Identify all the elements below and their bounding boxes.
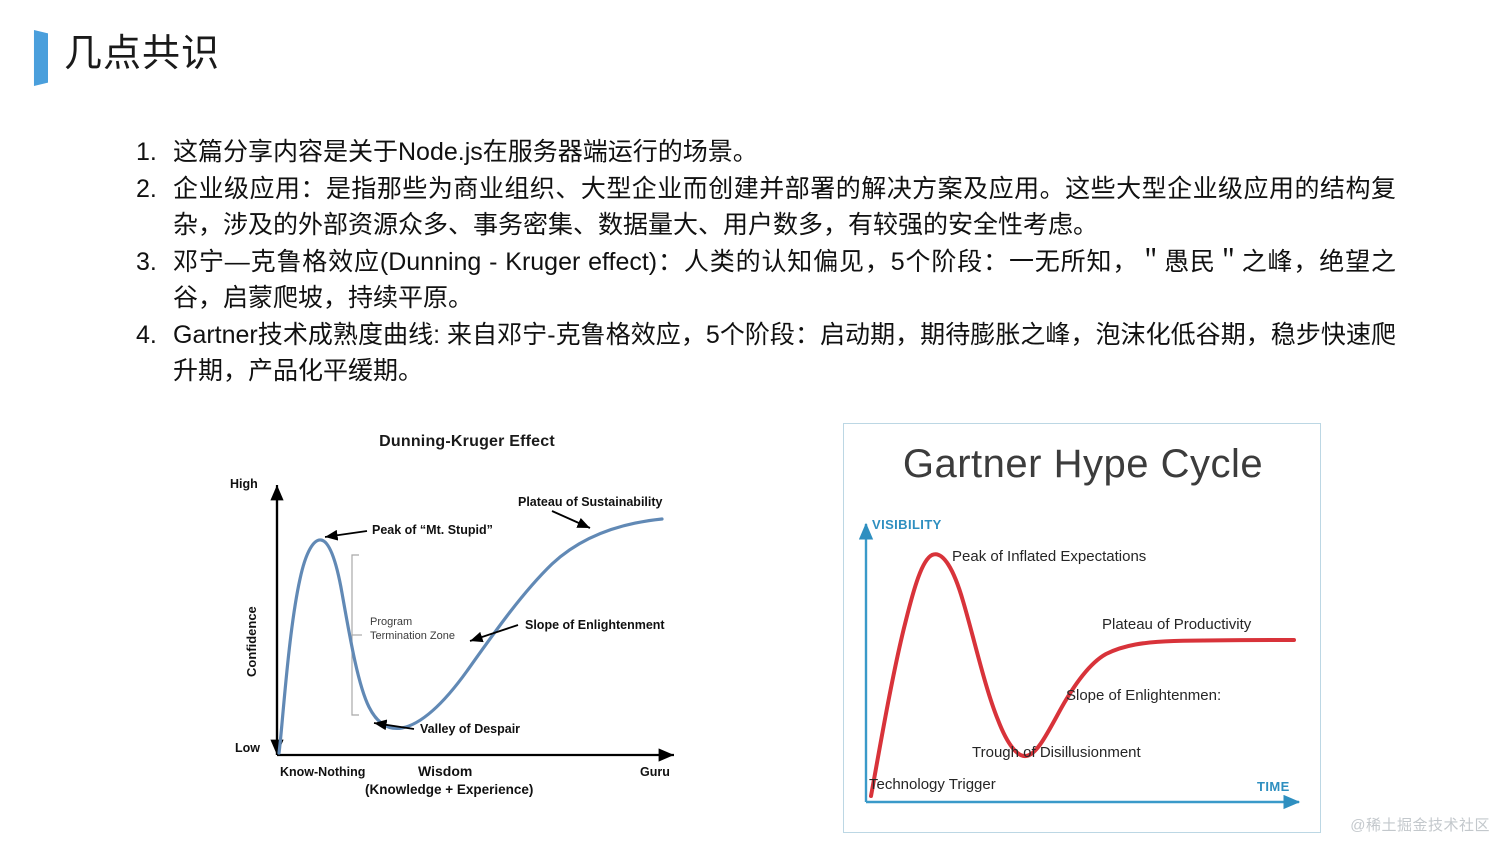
- list-item: 1. 这篇分享内容是关于Node.js在服务器端运行的场景。: [136, 134, 1396, 170]
- gartner-ylabel: VISIBILITY: [872, 517, 942, 532]
- page-title: 几点共识: [64, 22, 220, 86]
- list-item: 3. 邓宁—克鲁格效应(Dunning - Kruger effect)：人类的…: [136, 244, 1396, 316]
- gartner-annotation-peak: Peak of Inflated Expectations: [952, 548, 1146, 565]
- dk-xtick-guru: Guru: [640, 765, 670, 779]
- gartner-xlabel: TIME: [1257, 779, 1290, 794]
- list-item-text: Gartner技术成熟度曲线: 来自邓宁-克鲁格效应，5个阶段：启动期，期待膨胀…: [173, 317, 1396, 389]
- dk-annotation-slope: Slope of Enlightenment: [525, 618, 665, 632]
- watermark: @稀土掘金技术社区: [1350, 814, 1490, 835]
- dk-ytick-high: High: [230, 477, 258, 491]
- gartner-hype-cycle-figure: Gartner Hype Cycle VISIBILITY TIME Peak …: [843, 423, 1321, 833]
- page-header: 几点共识: [0, 22, 1512, 94]
- dk-annotation-plateau: Plateau of Sustainability: [518, 495, 662, 509]
- dk-annotation-program: Program: [370, 615, 412, 629]
- dk-annotation-termination-zone: Termination Zone: [370, 629, 455, 643]
- dk-ytick-low: Low: [235, 741, 260, 755]
- dk-annotation-peak: Peak of “Mt. Stupid”: [372, 523, 493, 537]
- dk-xlabel-sub: (Knowledge + Experience): [365, 782, 533, 797]
- list-item-text: 企业级应用：是指那些为商业组织、大型企业而创建并部署的解决方案及应用。这些大型企…: [173, 171, 1396, 243]
- list-item-text: 这篇分享内容是关于Node.js在服务器端运行的场景。: [173, 134, 1396, 170]
- dk-xtick-know-nothing: Know-Nothing: [280, 765, 365, 779]
- list-item-number: 2.: [136, 171, 173, 207]
- list-item-number: 1.: [136, 134, 173, 170]
- figures-row: Dunning-Kruger Effect: [0, 415, 1512, 835]
- dk-xlabel: Wisdom: [418, 763, 472, 779]
- list-item: 2. 企业级应用：是指那些为商业组织、大型企业而创建并部署的解决方案及应用。这些…: [136, 171, 1396, 243]
- gartner-annotation-trough: Trough of Disillusionment: [972, 744, 1141, 761]
- consensus-list: 1. 这篇分享内容是关于Node.js在服务器端运行的场景。 2. 企业级应用：…: [136, 134, 1396, 390]
- dunning-kruger-figure: Dunning-Kruger Effect: [222, 433, 712, 825]
- title-accent-bar: [30, 30, 48, 86]
- dk-ylabel: Confidence: [244, 606, 259, 677]
- list-item: 4. Gartner技术成熟度曲线: 来自邓宁-克鲁格效应，5个阶段：启动期，期…: [136, 317, 1396, 389]
- gartner-annotation-plateau: Plateau of Productivity: [1102, 616, 1251, 633]
- dk-annotation-valley: Valley of Despair: [420, 722, 520, 736]
- gartner-annotation-slope: Slope of Enlightenmen:: [1066, 687, 1221, 704]
- list-item-number: 4.: [136, 317, 173, 353]
- list-item-text: 邓宁—克鲁格效应(Dunning - Kruger effect)：人类的认知偏…: [173, 244, 1396, 316]
- gartner-annotation-trigger: Technology Trigger: [869, 776, 996, 793]
- list-item-number: 3.: [136, 244, 173, 280]
